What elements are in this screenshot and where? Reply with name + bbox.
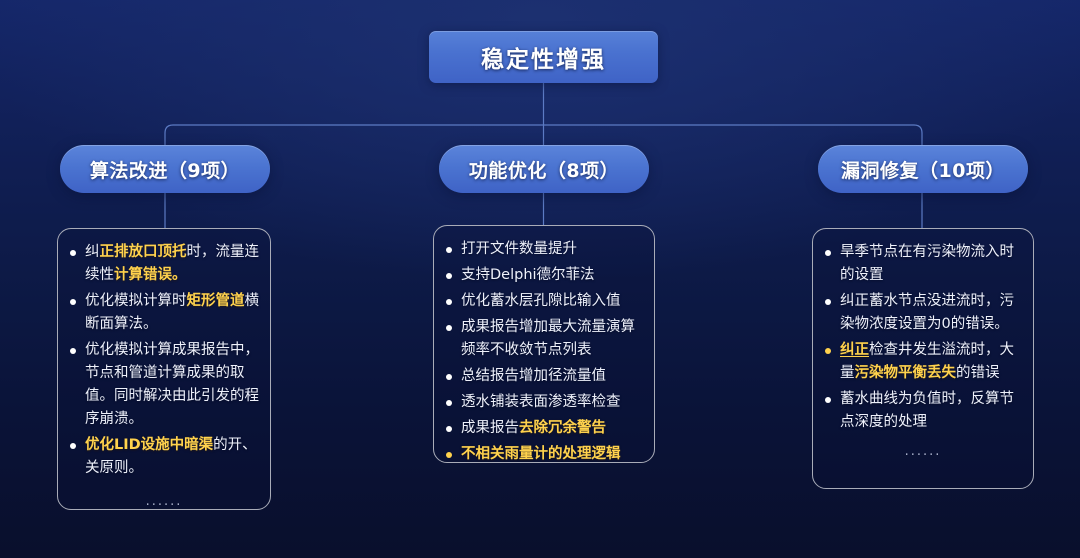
list-item: 透水铺装表面渗透率检查: [444, 391, 644, 414]
highlight-text-run: 去除冗余警告: [519, 420, 606, 436]
list-item: 成果报告去除冗余警告: [444, 417, 644, 440]
text-run: 的错误: [956, 365, 1000, 381]
list-item: 纠正蓄水节点没进流时，污染物浓度设置为0的错误。: [823, 290, 1023, 336]
text-run: 打开文件数量提升: [461, 241, 577, 257]
list-ellipsis: ······: [68, 498, 260, 513]
root-title-label: 稳定性增强: [481, 40, 606, 74]
item-list: 旱季节点在有污染物流入时的设置纠正蓄水节点没进流时，污染物浓度设置为0的错误。纠…: [823, 241, 1023, 434]
branch-pill-label: 漏洞修复（10项）: [841, 156, 1005, 183]
list-item: 成果报告增加最大流量演算频率不收敛节点列表: [444, 316, 644, 362]
branch-pill-label: 算法改进（9项）: [90, 156, 240, 183]
list-item: 不相关雨量计的处理逻辑: [444, 443, 644, 466]
text-run: 总结报告增加径流量值: [461, 368, 606, 384]
list-item: 支持Delphi德尔菲法: [444, 264, 644, 287]
list-ellipsis: ······: [823, 448, 1023, 463]
highlight-text-run: 优化LID设施中暗渠: [85, 437, 213, 453]
text-run: 透水铺装表面渗透率检查: [461, 394, 621, 410]
text-run: 旱季节点在有污染物流入时的设置: [840, 244, 1014, 283]
text-run: 支持Delphi德尔菲法: [461, 267, 595, 283]
item-list: 打开文件数量提升支持Delphi德尔菲法优化蓄水层孔隙比输入值成果报告增加最大流…: [444, 238, 644, 466]
list-item: 旱季节点在有污染物流入时的设置: [823, 241, 1023, 287]
text-run: 优化模拟计算成果报告中，节点和管道计算成果的取值。同时解决由此引发的程序崩溃。: [85, 342, 259, 427]
text-run: 蓄水曲线为负值时，反算节点深度的处理: [840, 391, 1014, 430]
highlight-text-run: 计算错误。: [114, 267, 187, 283]
list-item: 优化蓄水层孔隙比输入值: [444, 290, 644, 313]
list-item: 优化模拟计算成果报告中，节点和管道计算成果的取值。同时解决由此引发的程序崩溃。: [68, 339, 260, 431]
text-run: 优化蓄水层孔隙比输入值: [461, 293, 621, 309]
branch-pill-bugfix[interactable]: 漏洞修复（10项）: [818, 145, 1028, 193]
highlight-text-run: 矩形管道: [187, 293, 245, 309]
branch-card-bugfix: 旱季节点在有污染物流入时的设置纠正蓄水节点没进流时，污染物浓度设置为0的错误。纠…: [812, 228, 1034, 489]
highlight-text-run: 污染物平衡丢失: [855, 365, 957, 381]
highlight-text-run: 正排放口顶托: [100, 244, 187, 260]
branch-pill-function[interactable]: 功能优化（8项）: [439, 145, 649, 193]
highlight-text-run: 纠正: [840, 342, 869, 358]
root-title-node: 稳定性增强: [429, 31, 658, 83]
branch-pill-label: 功能优化（8项）: [469, 156, 619, 183]
item-list: 纠正排放口顶托时，流量连续性计算错误。优化模拟计算时矩形管道横断面算法。优化模拟…: [68, 241, 260, 480]
list-item: 纠正排放口顶托时，流量连续性计算错误。: [68, 241, 260, 287]
text-run: 成果报告增加最大流量演算频率不收敛节点列表: [461, 319, 635, 358]
highlight-text-run: 不相关雨量计的处理逻辑: [461, 446, 621, 462]
text-run: 优化模拟计算时: [85, 293, 187, 309]
text-run: 成果报告: [461, 420, 519, 436]
branch-pill-algorithm[interactable]: 算法改进（9项）: [60, 145, 270, 193]
text-run: 纠正蓄水节点没进流时，污染物浓度设置为0的错误。: [840, 293, 1014, 332]
branch-card-algorithm: 纠正排放口顶托时，流量连续性计算错误。优化模拟计算时矩形管道横断面算法。优化模拟…: [57, 228, 271, 510]
list-item: 总结报告增加径流量值: [444, 365, 644, 388]
text-run: 纠: [85, 244, 100, 260]
list-item: 优化LID设施中暗渠的开、关原则。: [68, 434, 260, 480]
list-item: 纠正检查井发生溢流时，大量污染物平衡丢失的错误: [823, 339, 1023, 385]
branch-card-function: 打开文件数量提升支持Delphi德尔菲法优化蓄水层孔隙比输入值成果报告增加最大流…: [433, 225, 655, 463]
list-item: 打开文件数量提升: [444, 238, 644, 261]
list-item: 蓄水曲线为负值时，反算节点深度的处理: [823, 388, 1023, 434]
list-item: 优化模拟计算时矩形管道横断面算法。: [68, 290, 260, 336]
